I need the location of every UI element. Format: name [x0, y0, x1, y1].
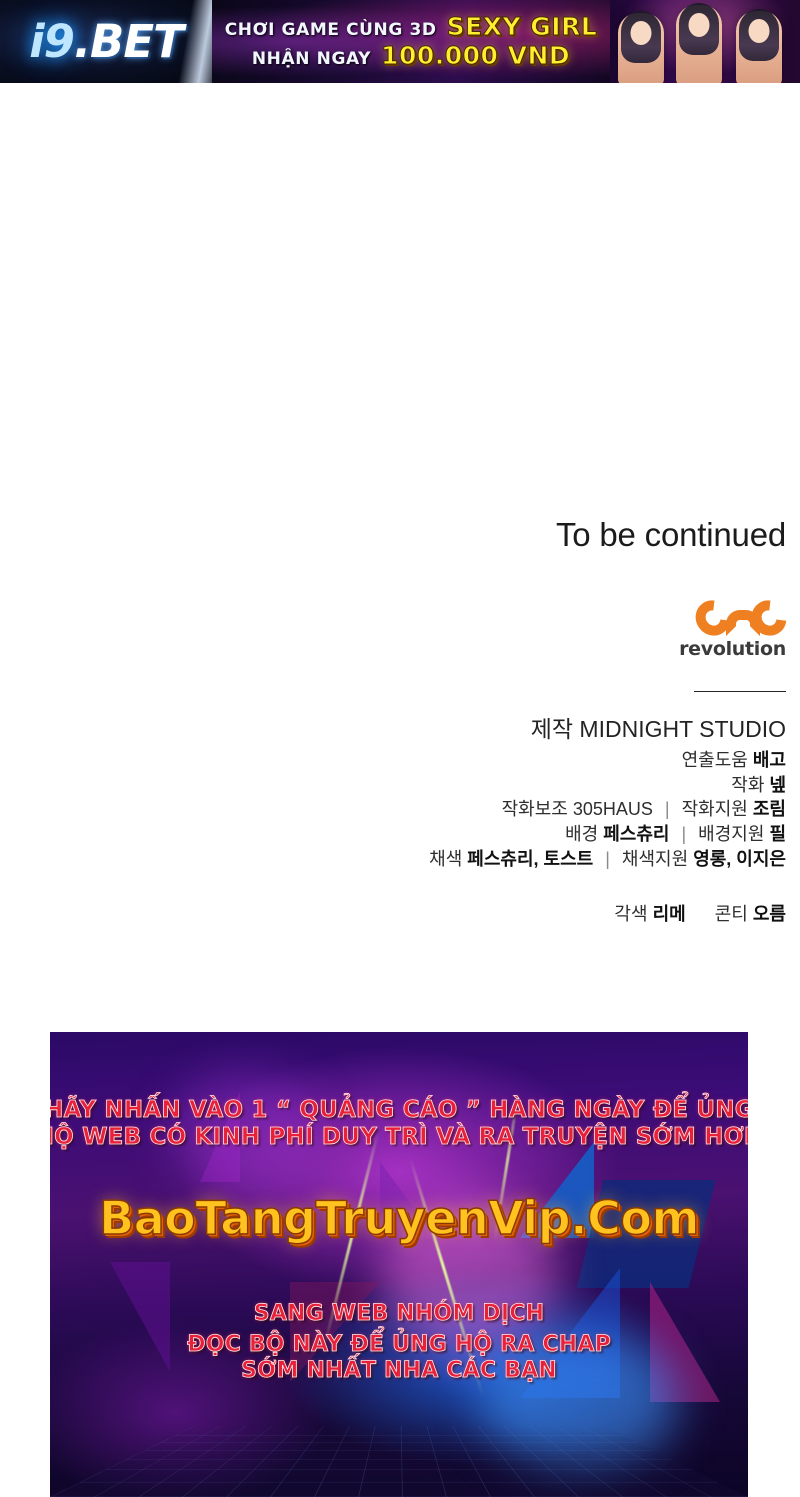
cnc-logo-wordmark: revolution — [679, 640, 786, 659]
promo-top-line-2: HỘ WEB CÓ KINH PHÍ DUY TRÌ VÀ RA TRUYỆN … — [50, 1124, 748, 1151]
credit-label: 채색 — [429, 849, 462, 869]
credit-label-2: 작화지원 — [682, 799, 748, 819]
ad-character-2 — [676, 5, 722, 83]
promo-top-line-1: HÃY NHẤN VÀO 1 “ QUẢNG CÁO ” HÀNG NGÀY Đ… — [50, 1097, 748, 1124]
credit-label: 작화보조 — [502, 799, 568, 819]
credit-label-2: 콘티 — [715, 904, 748, 924]
credits-divider — [694, 691, 786, 692]
ad-promo-line-1: CHƠI GAME CÙNG 3D SEXY GIRL — [225, 14, 598, 40]
credit-separator: | — [598, 847, 617, 872]
credit-separator: | — [658, 797, 677, 822]
credit-row-background: 배경 페스츄리 | 배경지원 필 — [226, 822, 786, 847]
credit-value: 배고 — [753, 750, 786, 770]
credit-label: 작화 — [731, 775, 764, 795]
promo-content: HÃY NHẤN VÀO 1 “ QUẢNG CÁO ” HÀNG NGÀY Đ… — [50, 1032, 748, 1497]
credit-label: 연출도움 — [682, 750, 748, 770]
comic-page-panel: To be continued revolution 제작 MIDNIGHT S… — [0, 83, 800, 1032]
credit-label-2: 배경지원 — [698, 824, 764, 844]
promo-top-message: HÃY NHẤN VÀO 1 “ QUẢNG CÁO ” HÀNG NGÀY Đ… — [50, 1097, 748, 1151]
credit-value-2: 오름 — [753, 904, 786, 924]
credit-label-2: 채색지원 — [622, 849, 688, 869]
credit-value-2: 영롱, 이지은 — [693, 849, 786, 869]
credit-value-2: 필 — [769, 824, 786, 844]
credit-value: 리메 — [653, 904, 686, 924]
ad-promo-line-2-label: NHẬN NGAY — [252, 51, 371, 69]
credit-row-art: 작화 넾 — [226, 773, 786, 798]
ad-promo-line-1-label: CHƠI GAME CÙNG 3D — [225, 22, 437, 40]
comic-credits-block: To be continued revolution 제작 MIDNIGHT S… — [226, 518, 786, 927]
credit-spacer — [691, 902, 710, 927]
credit-label: 배경 — [565, 824, 598, 844]
ad-brand-logo-prefix: i9 — [29, 15, 74, 68]
credit-value: MIDNIGHT STUDIO — [579, 716, 786, 742]
ad-brand-logo: i9.BET — [29, 15, 183, 68]
bottom-promo-banner[interactable]: HÃY NHẤN VÀO 1 “ QUẢNG CÁO ” HÀNG NGÀY Đ… — [50, 1032, 748, 1497]
credit-row-studio: 제작 MIDNIGHT STUDIO — [226, 714, 786, 746]
promo-bottom-message: SANG WEB NHÓM DỊCH ĐỌC BỘ NÀY ĐỂ ỦNG HỘ … — [187, 1301, 611, 1384]
cnc-logo-mark-icon — [679, 597, 786, 639]
ad-brand-logo-suffix: .BET — [74, 15, 183, 68]
promo-website-url[interactable]: BaoTangTruyenVip.Com — [99, 1191, 699, 1245]
ad-character-artwork — [610, 0, 800, 83]
credit-label: 제작 — [531, 716, 573, 742]
promo-bottom-line-2: ĐỌC BỘ NÀY ĐỂ ỦNG HỘ RA CHAP — [187, 1332, 611, 1358]
credit-row-art-assist: 작화보조 305HAUS | 작화지원 조림 — [226, 797, 786, 822]
credit-separator: | — [674, 822, 693, 847]
credit-row-adaptation: 각색 리메 콘티 오름 — [226, 902, 786, 927]
credit-value: 페스츄리 — [603, 824, 669, 844]
credit-row-direction-help: 연출도움 배고 — [226, 748, 786, 773]
credit-label: 각색 — [614, 904, 647, 924]
ad-promo-line-2: NHẬN NGAY 100.000 VND — [252, 43, 570, 69]
promo-bottom-line-1: SANG WEB NHÓM DỊCH — [187, 1301, 611, 1327]
credit-value: 페스츄리, 토스트 — [467, 849, 593, 869]
ad-character-3 — [736, 11, 782, 83]
ad-promo-line-1-highlight: SEXY GIRL — [447, 14, 598, 40]
credit-row-coloring: 채색 페스츄리, 토스트 | 채색지원 영롱, 이지은 — [226, 847, 786, 872]
ad-promo-line-2-amount: 100.000 VND — [381, 43, 570, 69]
ad-promo-text-panel: CHƠI GAME CÙNG 3D SEXY GIRL NHẬN NGAY 10… — [212, 0, 610, 83]
credit-value: 넾 — [769, 775, 786, 795]
cnc-revolution-logo: revolution — [679, 597, 786, 659]
credit-value-2: 조림 — [753, 799, 786, 819]
promo-bottom-line-3: SỚM NHẤT NHA CÁC BẠN — [187, 1358, 611, 1384]
to-be-continued-text: To be continued — [226, 518, 786, 551]
top-advertisement-banner[interactable]: i9.BET CHƠI GAME CÙNG 3D SEXY GIRL NHẬN … — [0, 0, 800, 83]
credit-value: 305HAUS — [573, 799, 653, 819]
ad-character-1 — [618, 13, 664, 83]
ad-brand-logo-panel[interactable]: i9.BET — [0, 0, 212, 83]
